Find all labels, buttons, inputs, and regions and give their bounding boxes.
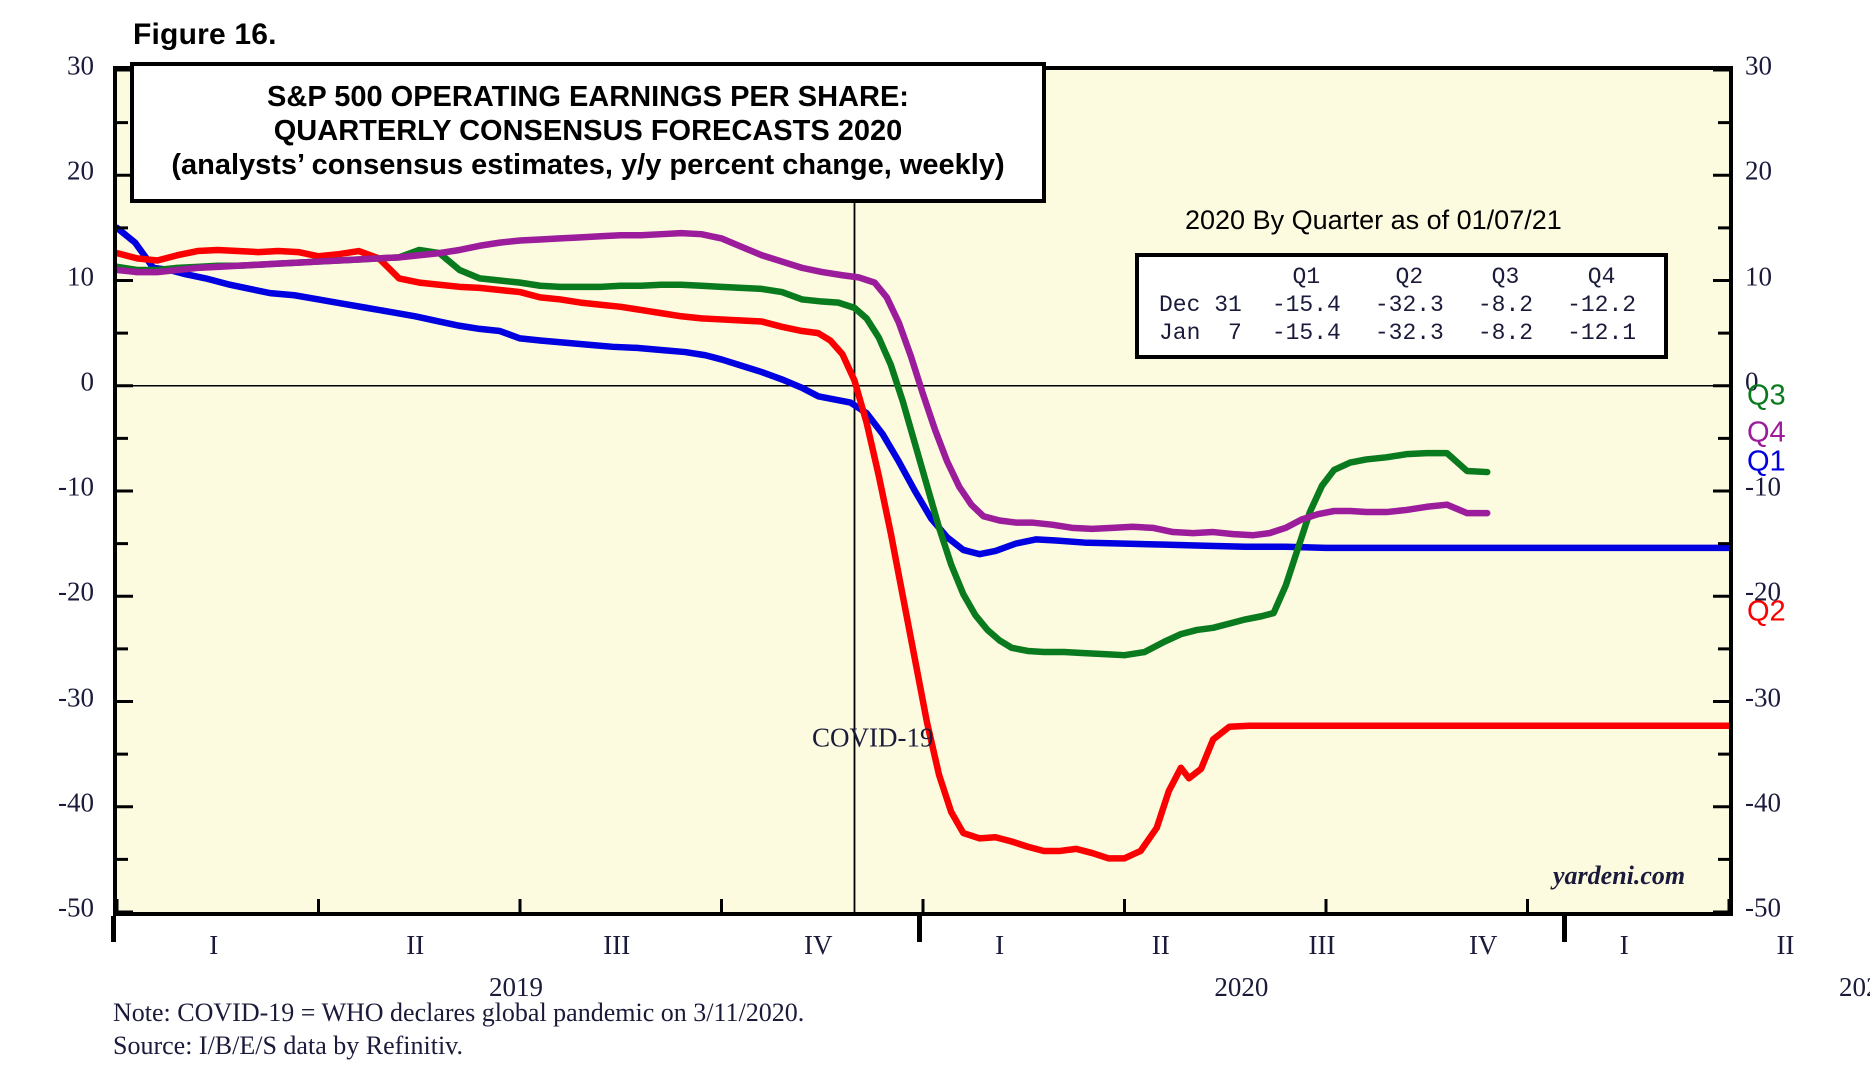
table-cell-q1: -15.4 — [1250, 319, 1353, 347]
x-axis-year-boundary — [111, 916, 116, 942]
table-row-label: Dec 31 — [1155, 291, 1250, 319]
table-col-q3: Q3 — [1456, 263, 1545, 291]
x-axis-year-boundary — [917, 916, 922, 942]
chart-title-line-3: (analysts’ consensus estimates, y/y perc… — [144, 148, 1032, 182]
table-row: Jan 7 -15.4 -32.3 -8.2 -12.1 — [1155, 319, 1648, 347]
table-col-q1: Q1 — [1250, 263, 1353, 291]
y-tick-label: 20 — [1745, 156, 1811, 187]
y-tick-label: 0 — [28, 366, 94, 397]
table-row: Dec 31 -15.4 -32.3 -8.2 -12.2 — [1155, 291, 1648, 319]
series-label-q1: Q1 — [1747, 446, 1786, 479]
y-tick-label: 30 — [1745, 51, 1811, 82]
chart-notes: Note: COVID-19 = WHO declares global pan… — [113, 996, 804, 1063]
table-cell-q4: -12.2 — [1545, 291, 1648, 319]
y-tick-label: -10 — [28, 472, 94, 503]
x-tick-label: I — [995, 930, 1004, 961]
x-axis-year-boundary — [1562, 916, 1567, 942]
x-tick-label: III — [1309, 930, 1336, 961]
y-tick-label: 10 — [28, 261, 94, 292]
x-tick-label: II — [406, 930, 424, 961]
figure-label: Figure 16. — [133, 18, 277, 52]
table-cell-q2: -32.3 — [1353, 291, 1456, 319]
table-row-label: Jan 7 — [1155, 319, 1250, 347]
covid-annotation-label: COVID-19 — [812, 723, 934, 754]
y-tick-label: -40 — [28, 787, 94, 818]
series-label-q3: Q3 — [1747, 380, 1786, 413]
series-label-q2: Q2 — [1747, 596, 1786, 629]
table-cell-q2: -32.3 — [1353, 319, 1456, 347]
x-axis-year-label: 2020 — [1214, 972, 1268, 1003]
y-tick-label: 30 — [28, 51, 94, 82]
x-tick-label: II — [1152, 930, 1170, 961]
x-tick-label: III — [603, 930, 630, 961]
y-tick-label: 10 — [1745, 261, 1811, 292]
note-line: Note: COVID-19 = WHO declares global pan… — [113, 996, 804, 1029]
chart-title-box: S&P 500 OPERATING EARNINGS PER SHARE: QU… — [130, 62, 1046, 203]
table-header-row: Q1 Q2 Q3 Q4 — [1155, 263, 1648, 291]
x-tick-label: IV — [1469, 930, 1498, 961]
y-tick-label: -30 — [28, 682, 94, 713]
x-tick-label: IV — [804, 930, 833, 961]
y-tick-label: 20 — [28, 156, 94, 187]
table-col-q2: Q2 — [1353, 263, 1456, 291]
y-tick-label: -40 — [1745, 787, 1811, 818]
y-tick-label: -50 — [28, 893, 94, 924]
x-tick-label: I — [209, 930, 218, 961]
y-tick-label: -30 — [1745, 682, 1811, 713]
table-cell-q4: -12.1 — [1545, 319, 1648, 347]
source-line: Source: I/B/E/S data by Refinitiv. — [113, 1029, 804, 1062]
data-table: Q1 Q2 Q3 Q4 Dec 31 -15.4 -32.3 -8.2 -12.… — [1135, 253, 1668, 359]
chart-title-line-2: QUARTERLY CONSENSUS FORECASTS 2020 — [144, 114, 1032, 148]
table-cell-q1: -15.4 — [1250, 291, 1353, 319]
data-table-heading: 2020 By Quarter as of 01/07/21 — [1185, 205, 1562, 236]
series-label-q4: Q4 — [1747, 417, 1786, 450]
x-axis-year-label: 2021 — [1839, 972, 1870, 1003]
x-tick-label: II — [1776, 930, 1794, 961]
x-tick-label: I — [1620, 930, 1629, 961]
table-col-q4: Q4 — [1545, 263, 1648, 291]
table-col-blank — [1155, 263, 1250, 291]
y-tick-label: -20 — [28, 577, 94, 608]
table-cell-q3: -8.2 — [1456, 291, 1545, 319]
y-tick-label: -50 — [1745, 893, 1811, 924]
watermark: yardeni.com — [1553, 861, 1685, 891]
chart-title-line-1: S&P 500 OPERATING EARNINGS PER SHARE: — [144, 80, 1032, 114]
table-cell-q3: -8.2 — [1456, 319, 1545, 347]
